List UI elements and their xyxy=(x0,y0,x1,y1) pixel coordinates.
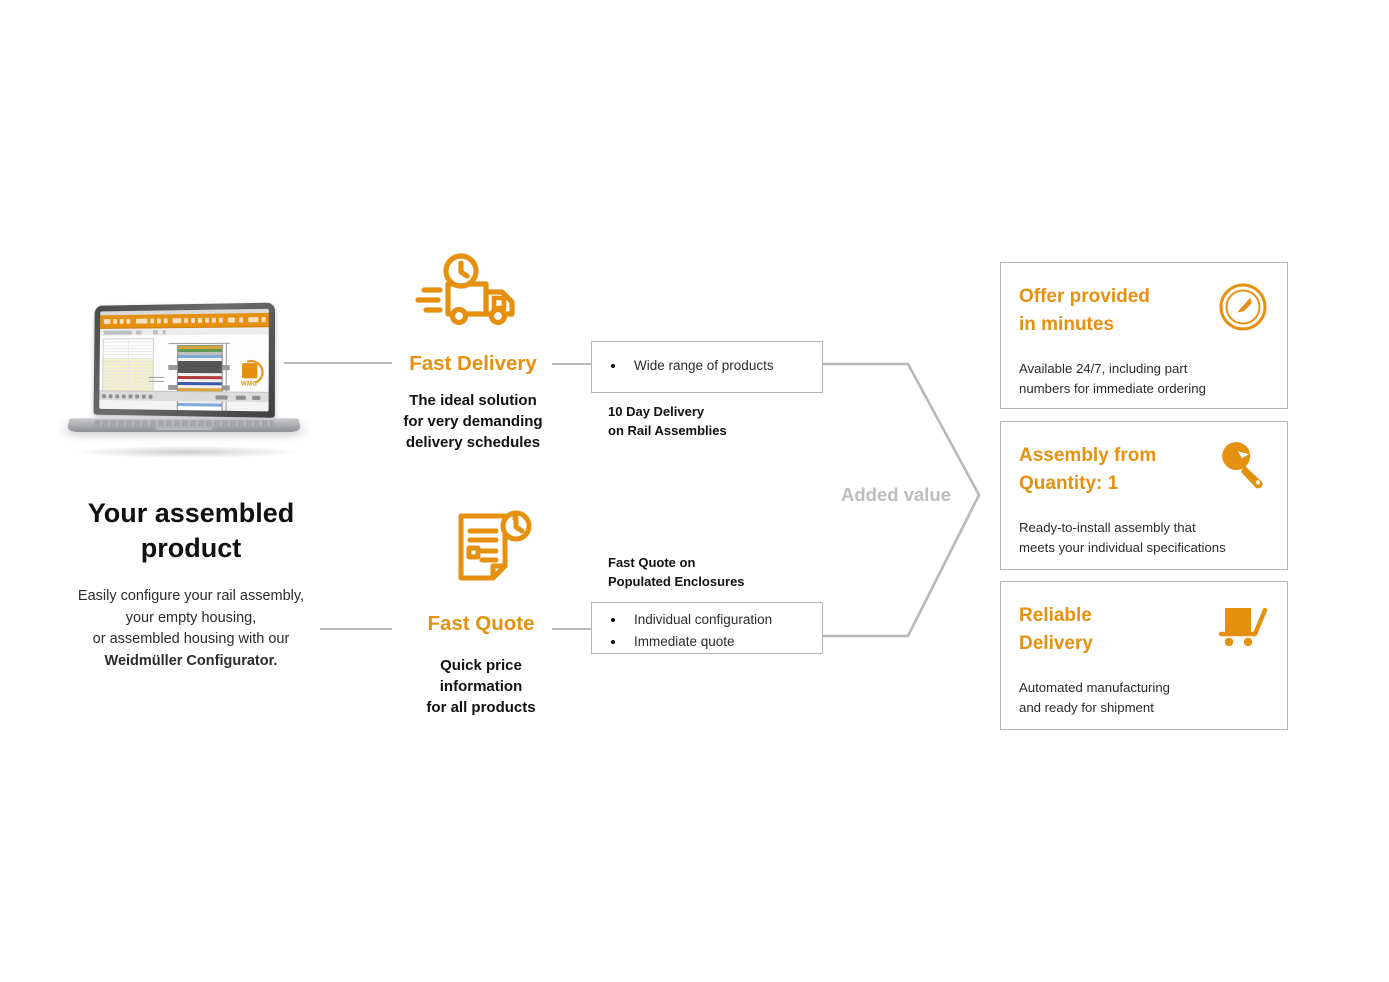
card1-title-line-2: in minutes xyxy=(1019,314,1114,335)
intro-line-4-brand: Weidmüller Configurator. xyxy=(105,653,278,669)
list-item: Immediate quote xyxy=(592,631,822,653)
card-body: Available 24/7, including partnumbers fo… xyxy=(1019,359,1269,399)
branch-subtitle-fast-quote: Quick price information for all products xyxy=(390,655,572,718)
parts-list-grid xyxy=(102,338,154,396)
branch-title-fast-quote: Fast Quote xyxy=(390,612,572,636)
card1-title-line-1: Offer provided xyxy=(1019,286,1150,307)
card2-body-line-2: meets your individual specifications xyxy=(1019,540,1226,555)
wmc-logo: WMC xyxy=(236,363,263,388)
card-body: Ready-to-install assembly thatmeets your… xyxy=(1019,518,1269,558)
card3-body-line-1: Automated manufacturing xyxy=(1019,680,1170,695)
card-title: Offer providedin minutes xyxy=(1019,283,1209,339)
fd-sub-line-2: for very demanding xyxy=(403,413,542,430)
added-value-label: Added value xyxy=(834,484,958,506)
card3-title-line-1: Reliable xyxy=(1019,605,1092,626)
card-title: ReliableDelivery xyxy=(1019,602,1209,658)
laptop-illustration: WMC xyxy=(62,300,312,470)
branch-subtitle-fast-delivery: The ideal solution for very demanding de… xyxy=(382,390,564,453)
cap-bottom-line-2: Populated Enclosures xyxy=(608,574,745,589)
fq-sub-line-2: information xyxy=(440,678,523,695)
cap-top-line-2: on Rail Assemblies xyxy=(608,423,727,438)
os-taskbar xyxy=(99,390,268,402)
caption-fast-quote: Fast Quote on Populated Enclosures xyxy=(608,553,838,591)
intro-line-1: Easily configure your rail assembly, xyxy=(78,588,304,604)
fq-sub-line-3: for all products xyxy=(426,699,535,716)
list-item: Individual configuration xyxy=(592,609,822,631)
infographic-canvas: WMC Your assembled product Easily config… xyxy=(0,0,1389,982)
connector-laptop-to-fast-quote xyxy=(320,628,392,630)
laptop-keyboard-base xyxy=(66,418,301,432)
fq-sub-line-1: Quick price xyxy=(440,657,522,674)
branch-title-fast-delivery: Fast Delivery xyxy=(382,352,564,376)
bullet-box-fast-quote: Individual configuration Immediate quote xyxy=(591,602,823,654)
document-clock-icon xyxy=(455,510,535,582)
card3-title-line-2: Delivery xyxy=(1019,633,1093,654)
speedometer-gauge-icon xyxy=(1217,281,1269,333)
app-workspace: WMC xyxy=(99,334,268,402)
card2-title-line-2: Quantity: 1 xyxy=(1019,473,1118,494)
card1-body-line-1: Available 24/7, including part xyxy=(1019,361,1187,376)
card-offer-provided: Offer providedin minutes Available 24/7,… xyxy=(1000,262,1288,409)
connector-laptop-to-fast-delivery xyxy=(284,362,392,364)
intro-line-3: or assembled housing with our xyxy=(93,631,290,647)
cap-bottom-line-1: Fast Quote on xyxy=(608,555,695,570)
wrench-icon xyxy=(1217,440,1269,492)
fd-sub-line-1: The ideal solution xyxy=(409,392,537,409)
card-reliable-delivery: ReliableDelivery Automated manufacturing… xyxy=(1000,581,1288,730)
card-title: Assembly fromQuantity: 1 xyxy=(1019,442,1209,498)
cap-top-line-1: 10 Day Delivery xyxy=(608,404,704,419)
hand-cart-box-icon xyxy=(1217,600,1269,652)
card1-body-line-2: numbers for immediate ordering xyxy=(1019,381,1206,396)
list-item: Wide range of products xyxy=(592,355,822,377)
wmc-cube-icon xyxy=(241,363,256,378)
intro-line-2: your empty housing, xyxy=(126,610,257,626)
card-body: Automated manufacturingand ready for shi… xyxy=(1019,678,1269,718)
card3-body-line-2: and ready for shipment xyxy=(1019,700,1154,715)
delivery-truck-clock-icon xyxy=(414,252,524,330)
card2-body-line-1: Ready-to-install assembly that xyxy=(1019,520,1196,535)
card2-title-line-1: Assembly from xyxy=(1019,445,1156,466)
laptop-screen: WMC xyxy=(99,309,269,412)
fd-sub-line-3: delivery schedules xyxy=(406,434,540,451)
bullet-box-fast-delivery: Wide range of products xyxy=(591,341,823,393)
laptop-lid: WMC xyxy=(94,303,275,418)
caption-fast-delivery: 10 Day Delivery on Rail Assemblies xyxy=(608,402,838,440)
laptop-shadow xyxy=(72,446,302,458)
intro-description: Easily configure your rail assembly, you… xyxy=(52,586,330,672)
card-assembly-quantity: Assembly fromQuantity: 1 Ready-to-instal… xyxy=(1000,421,1288,570)
page-title: Your assembled product xyxy=(60,496,322,566)
